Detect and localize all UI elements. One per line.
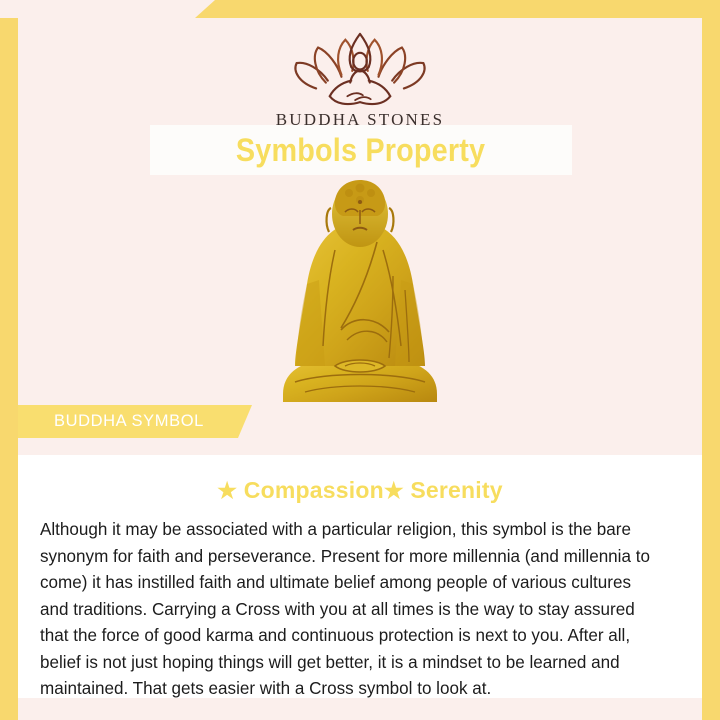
decorative-right-band bbox=[702, 0, 720, 720]
star-icon-1: ★ bbox=[217, 478, 237, 503]
poster-inner: BUDDHA STONES Symbols Property bbox=[18, 18, 702, 720]
content-card: ★ Compassion★ Serenity Although it may b… bbox=[18, 455, 702, 698]
ribbon-label: BUDDHA SYMBOL bbox=[54, 412, 204, 431]
seated-golden-buddha-statue-icon bbox=[265, 180, 455, 412]
poster-canvas: BUDDHA STONES Symbols Property bbox=[0, 0, 720, 720]
decorative-top-band bbox=[195, 0, 720, 18]
brand-logo: BUDDHA STONES bbox=[18, 28, 702, 130]
star-icon-2: ★ bbox=[384, 478, 404, 503]
content-body: Although it may be associated with a par… bbox=[40, 516, 661, 702]
lotus-meditation-figure-icon bbox=[285, 28, 435, 106]
buddha-symbol-ribbon: BUDDHA SYMBOL bbox=[18, 405, 252, 438]
content-subtitle: ★ Compassion★ Serenity bbox=[18, 477, 702, 504]
decorative-left-band bbox=[0, 18, 18, 720]
hero-image bbox=[18, 180, 702, 412]
page-title: Symbols Property bbox=[236, 132, 485, 169]
subtitle-word-serenity: Serenity bbox=[410, 477, 502, 503]
subtitle-word-compassion: Compassion bbox=[244, 477, 384, 503]
title-banner: Symbols Property bbox=[150, 125, 572, 175]
